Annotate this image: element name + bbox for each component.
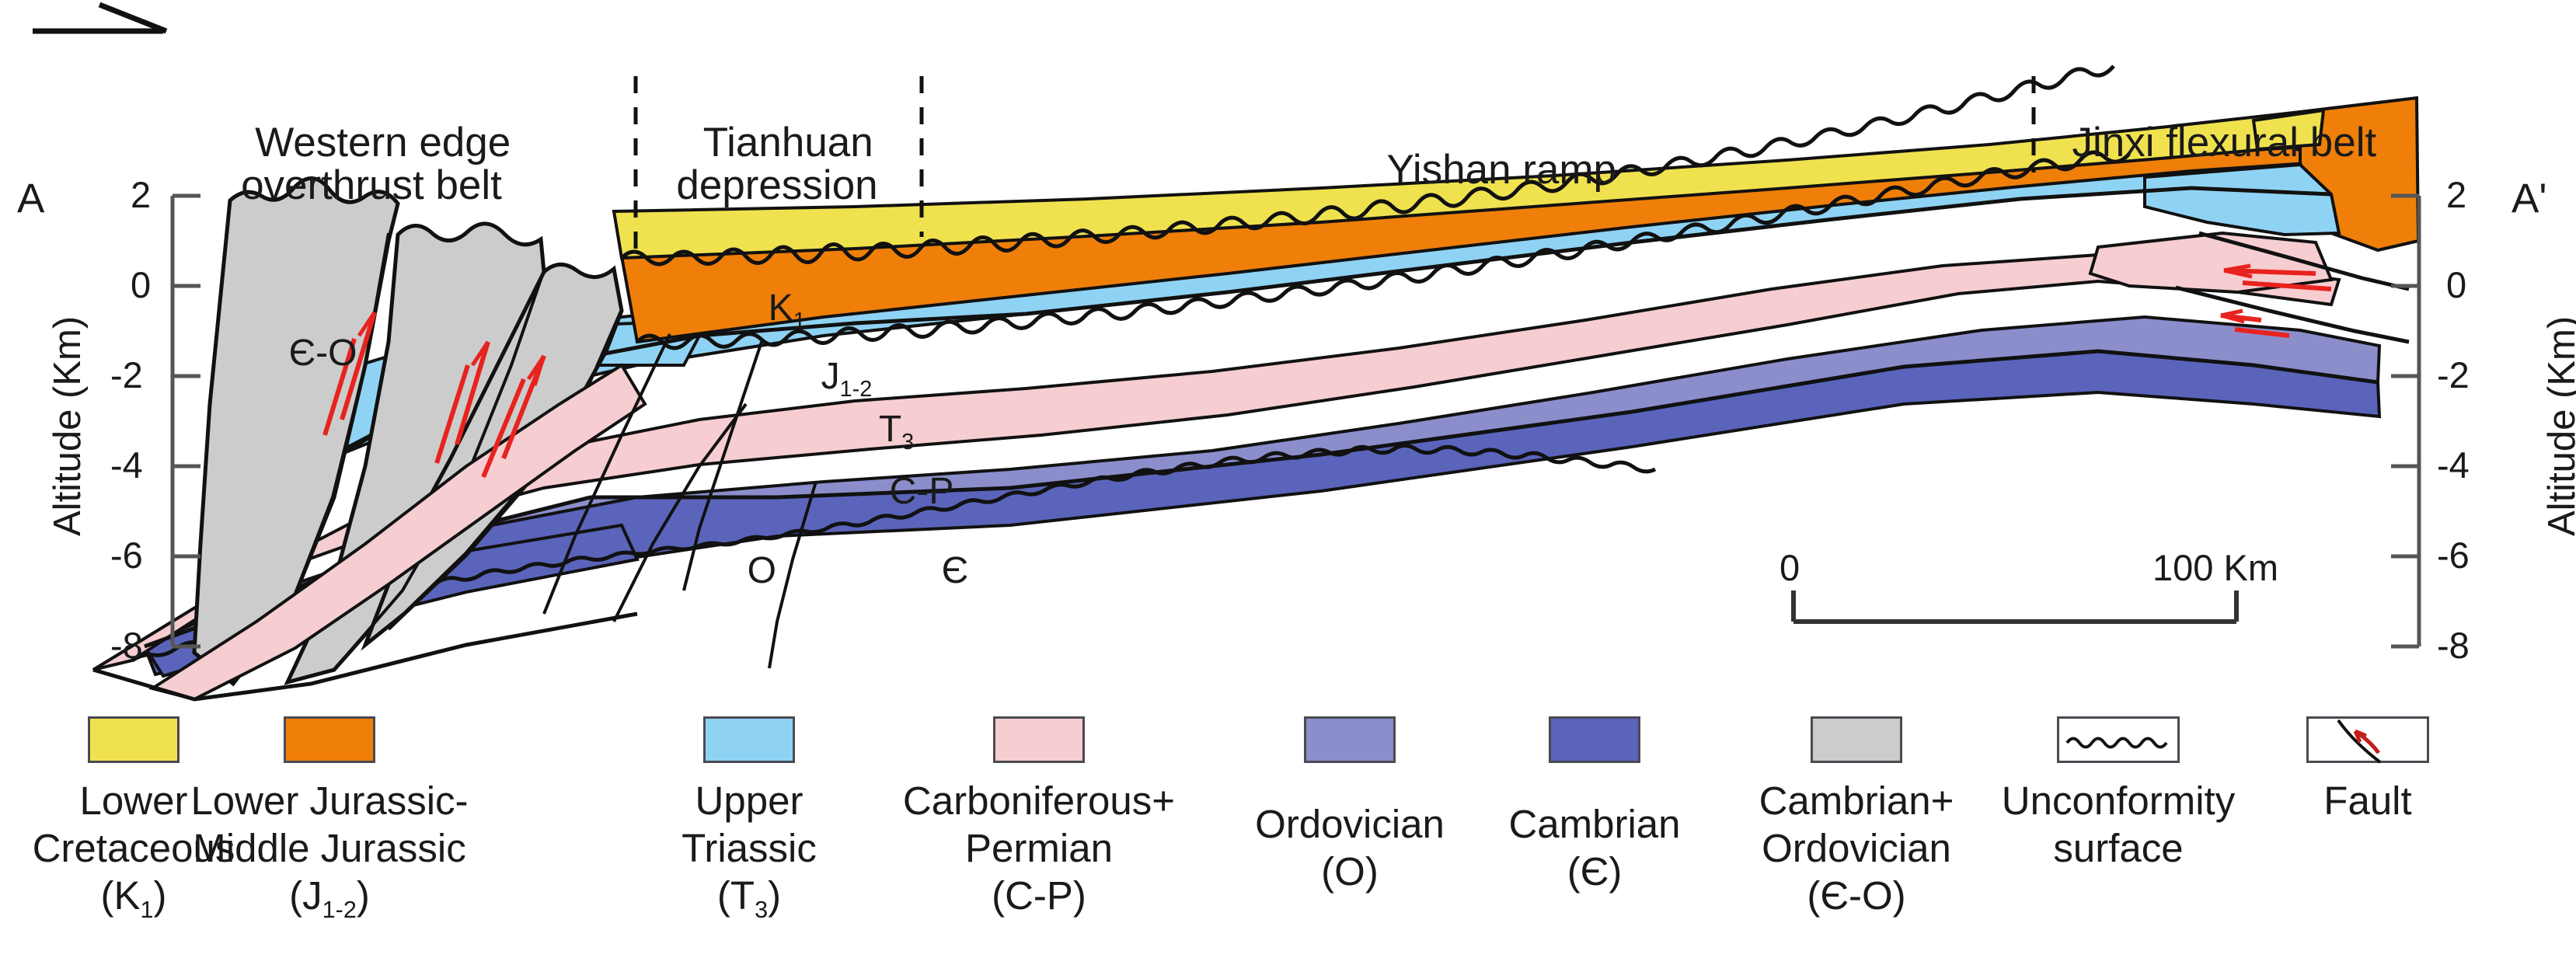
legend-caption-unconformity-surface: Unconformitysurface xyxy=(2002,777,2235,872)
legend-swatch-upper-triassic[interactable] xyxy=(703,716,795,763)
unit-label-cp: C-P xyxy=(869,434,953,512)
legend-caption-fault: Fault xyxy=(2323,777,2411,824)
legend-caption-cambrian: Cambrian(Є) xyxy=(1508,800,1680,895)
scale-bar xyxy=(1793,591,2236,622)
unit-label-o: O xyxy=(727,513,776,591)
left-tick-label-3: -4 xyxy=(110,446,143,484)
legend-swatch-lower-cretaceous[interactable] xyxy=(88,716,180,763)
left-tick-label-0: 2 xyxy=(131,176,151,214)
direction-arrow-icon xyxy=(33,5,166,31)
legend-caption-lower-middle-jurassic: Lower Jurassic-Middle Jurassic(J1-2) xyxy=(190,777,468,920)
zone-label-jinxi: Jinxi flexural belt xyxy=(2049,78,2376,164)
right-axis xyxy=(2391,196,2419,646)
unit-label-cambrian-ordovician: Є-O xyxy=(268,295,357,374)
right-tick-label-2: -2 xyxy=(2437,356,2470,394)
legend-swatch-fault[interactable] xyxy=(2306,716,2429,763)
legend-swatch-cambrian-ordovician[interactable] xyxy=(1811,716,1902,763)
wavy-line-icon xyxy=(2059,719,2182,765)
right-tick-label-3: -4 xyxy=(2437,446,2470,484)
unit-label-k1: K1 xyxy=(748,250,806,329)
legend-caption-cambrian-ordovician: Cambrian+Ordovician(Є-O) xyxy=(1759,777,1954,920)
right-tick-label-4: -6 xyxy=(2437,536,2470,574)
fault-symbol-icon xyxy=(2309,719,2431,765)
legend-swatch-unconformity-surface[interactable] xyxy=(2057,716,2180,763)
left-tick-label-2: -2 xyxy=(110,356,143,394)
unit-label-cambrian: Є xyxy=(921,513,968,591)
left-axis-title: Altitude (Km) xyxy=(48,316,88,536)
right-axis-title: Altitude (Km) xyxy=(2543,316,2576,536)
right-tick-label-5: -8 xyxy=(2437,626,2470,664)
right-tick-label-0: 2 xyxy=(2446,176,2466,214)
section-label-a-prime: A' xyxy=(2512,177,2546,221)
section-label-a: A xyxy=(17,177,44,221)
unit-triassic-jinxi-sliver xyxy=(2145,165,2339,235)
unit-carboniferous-jinxi-sliver xyxy=(2090,233,2331,292)
scale-bar-label-left: 0 xyxy=(1779,549,1800,587)
legend-caption-ordovician: Ordovician(O) xyxy=(1255,800,1445,895)
zone-label-tianhuan: Tianhuandepression xyxy=(676,78,877,207)
left-tick-label-5: -8 xyxy=(110,626,143,664)
scale-bar-label-right: 100 Km xyxy=(2152,549,2278,587)
legend-swatch-lower-middle-jurassic[interactable] xyxy=(284,716,375,763)
right-tick-label-1: 0 xyxy=(2446,266,2466,304)
zone-label-yishan-ramp: Yishan ramp xyxy=(1365,105,1616,191)
left-tick-label-4: -6 xyxy=(110,536,143,574)
legend-caption-upper-triassic: UpperTriassic(T3) xyxy=(681,777,817,920)
zone-label-western-edge: Western edgeoverthrust belt xyxy=(232,78,511,207)
left-axis xyxy=(173,196,200,646)
legend-swatch-cambrian[interactable] xyxy=(1549,716,1640,763)
legend-swatch-carboniferous-permian[interactable] xyxy=(993,716,1085,763)
legend-swatch-ordovician[interactable] xyxy=(1304,716,1396,763)
left-tick-label-1: 0 xyxy=(131,266,151,304)
legend-caption-carboniferous-permian: Carboniferous+Permian(C-P) xyxy=(903,777,1175,920)
